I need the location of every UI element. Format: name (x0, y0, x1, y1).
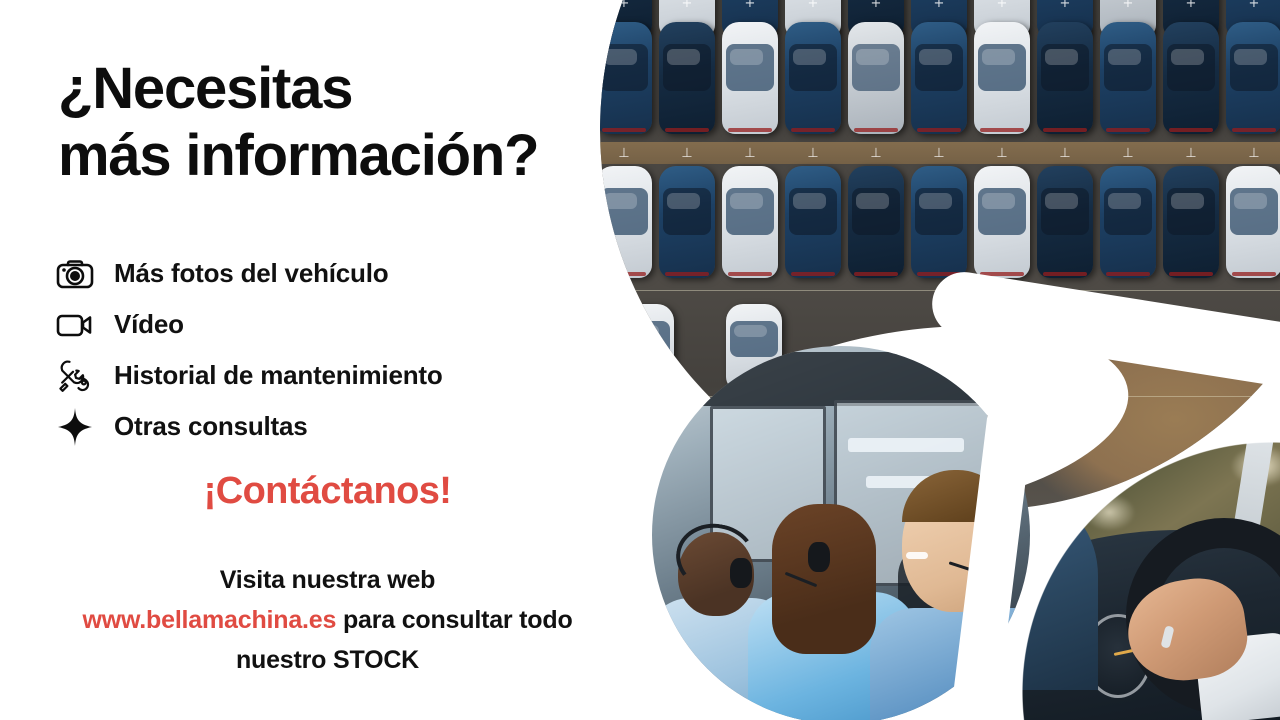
collage-separator-upper (690, 301, 1141, 539)
website-line-3: nuestro STOCK (0, 640, 655, 680)
website-line-1: Visita nuestra web (0, 560, 655, 600)
contact-cta[interactable]: ¡Contáctanos! (0, 470, 655, 513)
video-icon (52, 304, 98, 346)
feature-label-photos: Más fotos del vehículo (114, 258, 388, 289)
feature-item-maintenance: Historial de mantenimiento (52, 350, 662, 401)
feature-item-photos: Más fotos del vehículo (52, 248, 662, 299)
collage-separator-lower (949, 351, 1041, 720)
call-center-photo (652, 346, 1030, 720)
feature-item-video: Vídeo (52, 299, 662, 350)
feature-label-other: Otras consultas (114, 411, 308, 442)
promo-poster: +++++ +++++ +++ (0, 0, 1280, 720)
website-line-2-tail: para consultar todo (336, 606, 572, 634)
poster-content: ¿Necesitas más información? Más fotos de… (0, 0, 680, 720)
feature-list: Más fotos del vehículo Vídeo (52, 248, 662, 452)
wrench-icon (52, 355, 98, 397)
feature-label-video: Vídeo (114, 309, 184, 340)
page-title: ¿Necesitas más información? (58, 56, 678, 189)
parking-lot-photo: +++++ +++++ +++ (600, 0, 1280, 510)
camera-icon (52, 253, 98, 295)
website-line-2: www.bellamachina.es para consultar todo (0, 600, 655, 640)
website-url[interactable]: www.bellamachina.es (82, 606, 336, 634)
sparkle-icon (52, 406, 98, 448)
driving-photo (1004, 392, 1280, 720)
feature-item-other: Otras consultas (52, 401, 662, 452)
feature-label-maintenance: Historial de mantenimiento (114, 360, 443, 391)
collage-separator-right (928, 268, 1280, 397)
website-block: Visita nuestra web www.bellamachina.es p… (0, 560, 655, 680)
parking-lot-image: +++++ +++++ +++ (600, 0, 1280, 510)
